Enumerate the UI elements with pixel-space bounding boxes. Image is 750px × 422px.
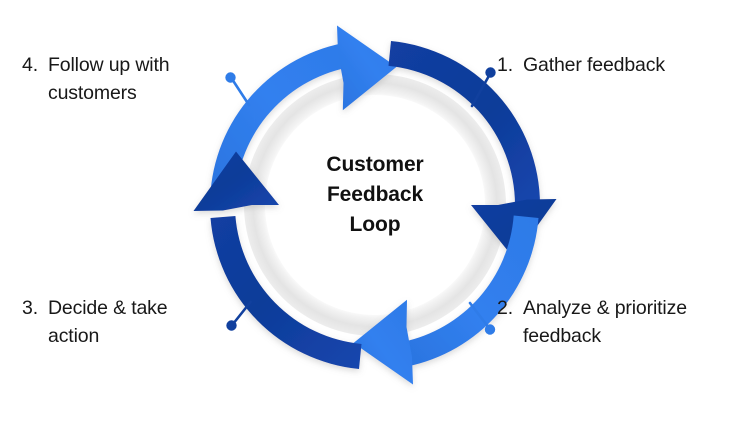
step-label-1: 1.Gather feedback [497,52,665,80]
step-text-2-line-1: Analyze & prioritize [523,297,687,319]
connector-step-3 [226,302,250,331]
step-text-3-line-2: action [22,323,167,351]
step-label-3: 3.Decide & take action [22,295,167,350]
step-label-4: 4.Follow up with customers [22,52,169,107]
connector-dot-step-1 [485,67,495,77]
step-text-1-line-1: Gather feedback [523,54,665,76]
step-number-4: 4. [22,52,48,80]
connector-line-step-3 [233,302,251,324]
inner-white-core [265,95,485,315]
connector-line-step-4 [232,79,249,105]
step-text-4-line-2: customers [22,80,169,108]
cycle-diagram: Customer Feedback Loop 1.Gather feedback… [0,0,750,422]
connector-dot-step-3 [226,320,236,330]
step-text-4-line-1: Follow up with [48,54,169,76]
step-text-2-line-2: feedback [497,323,687,351]
step-number-1: 1. [497,52,523,80]
step-label-2: 2.Analyze & prioritize feedback [497,295,687,350]
step-text-3-line-1: Decide & take [48,297,167,319]
step-number-2: 2. [497,295,523,323]
connector-dot-step-2 [485,324,495,334]
connector-dot-step-4 [225,72,235,82]
step-number-3: 3. [22,295,48,323]
connector-step-4 [225,72,249,105]
